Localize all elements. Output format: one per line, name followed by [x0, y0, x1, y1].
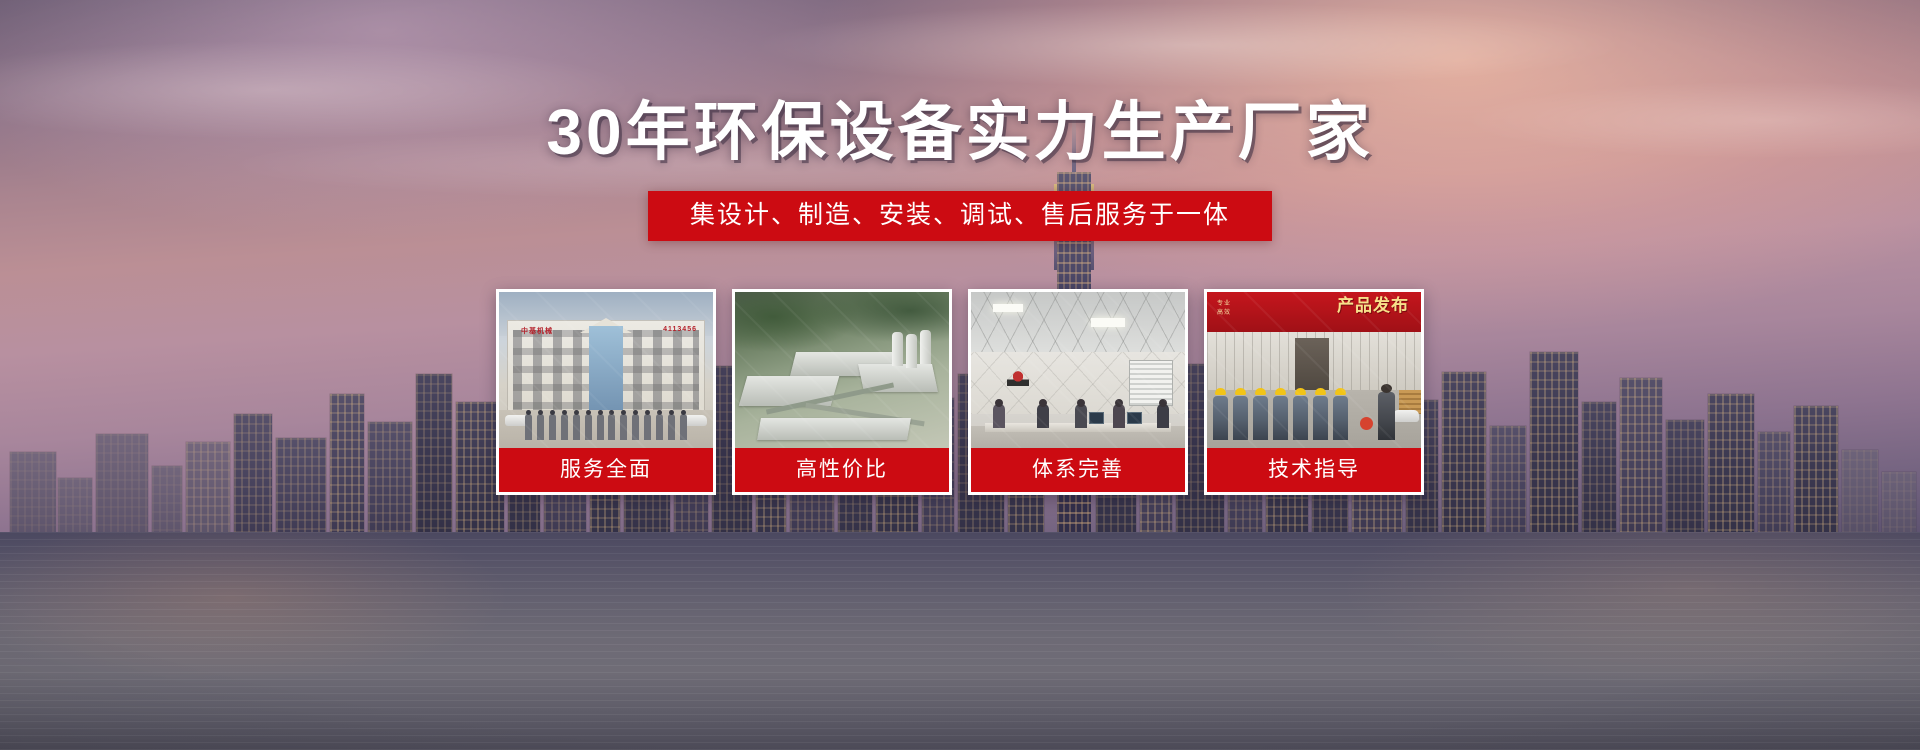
employee-row: [979, 394, 1177, 428]
building-sign-text: 中基机械: [521, 326, 553, 336]
card-caption: 服务全面: [499, 448, 713, 492]
industrial-plant-illustration: [735, 292, 949, 448]
office-interior-illustration: [971, 292, 1185, 448]
wall-logo-icon: [1007, 370, 1029, 386]
card-caption: 技术指导: [1207, 448, 1421, 492]
card-photo-office-interior-with-employees: [971, 292, 1185, 448]
office-building-illustration: 中基机械 4113456: [499, 292, 713, 448]
factory-illustration: 专业 高效 产品发布: [1207, 292, 1421, 448]
card-photo-aerial-view-industrial-plant: [735, 292, 949, 448]
card-caption: 高性价比: [735, 448, 949, 492]
factory-banner-subtext-2: 高效: [1217, 310, 1231, 316]
hero-banner: 30年环保设备实力生产厂家 集设计、制造、安装、调试、售后服务于一体 中基机械 …: [0, 0, 1920, 750]
banner-content: 30年环保设备实力生产厂家 集设计、制造、安装、调试、售后服务于一体 中基机械 …: [0, 0, 1920, 750]
worker-row: [1213, 382, 1363, 440]
building-sign-phone: 4113456: [663, 326, 697, 333]
card-caption: 体系完善: [971, 448, 1185, 492]
staff-row: [525, 414, 687, 442]
factory-banner-subtext-1: 专业: [1217, 301, 1231, 307]
card-photo-factory-workers-with-helmets: 专业 高效 产品发布: [1207, 292, 1421, 448]
feature-card[interactable]: 中基机械 4113456 服务全面: [496, 289, 716, 495]
card-photo-company-office-building-with-staff: 中基机械 4113456: [499, 292, 713, 448]
banner-headline: 30年环保设备实力生产厂家: [546, 100, 1373, 164]
feature-card[interactable]: 高性价比: [732, 289, 952, 495]
feature-card[interactable]: 专业 高效 产品发布: [1204, 289, 1424, 495]
feature-card[interactable]: 体系完善: [968, 289, 1188, 495]
factory-banner-text: 产品发布: [1337, 297, 1409, 314]
banner-subtitle-ribbon: 集设计、制造、安装、调试、售后服务于一体: [648, 191, 1272, 241]
factory-red-banner: 专业 高效 产品发布: [1207, 292, 1421, 334]
feature-card-list: 中基机械 4113456 服务全面: [496, 289, 1424, 495]
